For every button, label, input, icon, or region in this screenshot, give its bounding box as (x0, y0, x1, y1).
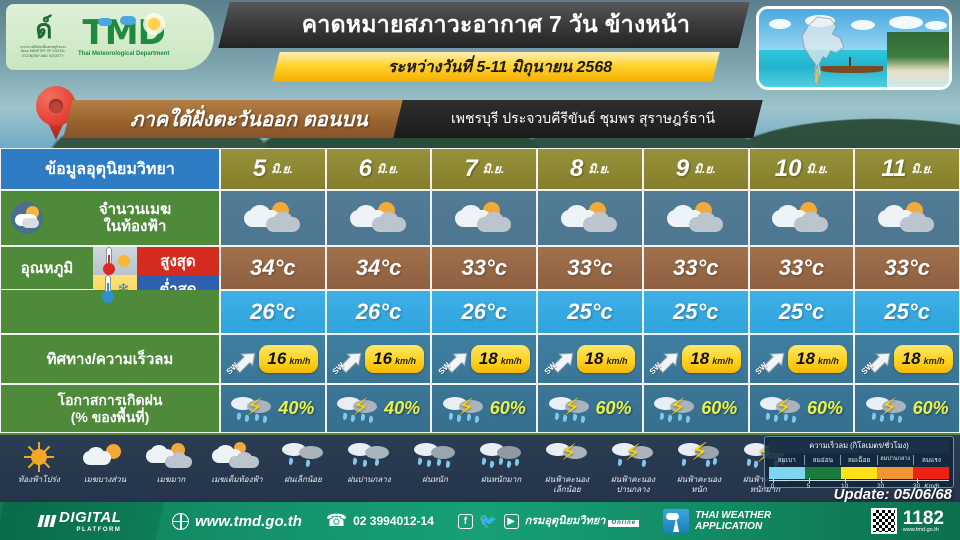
legend-label: ท้องฟ้าโปร่ง (18, 475, 60, 485)
wind-scale-swatch (841, 467, 877, 479)
rain-percent: 60% (913, 398, 949, 419)
celsius-unit: °c (803, 255, 824, 281)
day-month: มิ.ย. (271, 160, 293, 179)
day-month: มิ.ย. (377, 160, 399, 179)
wind-scale-label: ลมปานกลาง (878, 455, 914, 465)
digital-platform-logo: DIGITAL PLATFORM (0, 502, 164, 540)
app-name: THAI WEATHER APPLICATION (695, 510, 771, 533)
wind-speed-value: 18 (690, 349, 709, 369)
forecast-table: ข้อมูลอุตุนิยมวิทยา 5 มิ.ย. 6 มิ.ย. 7 มิ… (0, 148, 960, 433)
day-number: 11 (881, 155, 906, 183)
legend-label: ฝนฟ้าคะนอง หนัก (677, 475, 721, 494)
very-heavy-rain-icon (480, 439, 522, 475)
rain-cell-4: ⚡ 60% (643, 384, 749, 433)
wind-speed-unit: km/h (289, 356, 310, 366)
rain-percent: 60% (490, 398, 526, 419)
rain-percent: 60% (701, 398, 737, 419)
tmax-cell-5: 33°c (749, 246, 855, 290)
tmin-value: 26 (356, 299, 380, 325)
tmin-cell-2: 26°c (431, 290, 537, 334)
wind-scale-swatch (877, 467, 913, 479)
wind-speed-unit: km/h (395, 356, 416, 366)
tmax-value: 33 (462, 255, 486, 281)
mdes-logo-subtitle: กระทรวงดิจิทัลเพื่อเศรษฐกิจและสังคม MINI… (16, 45, 70, 59)
tmax-value: 34 (356, 255, 380, 281)
sky-cell-5 (749, 190, 855, 246)
celsius-unit: °c (592, 255, 613, 281)
rain-cell-1: ⚡ 40% (326, 384, 432, 433)
sky-cell-3 (537, 190, 643, 246)
wind-scale-label: ลมเฉื่อย (841, 455, 877, 465)
sky-cell-1 (326, 190, 432, 246)
legend-item: ท้องฟ้าโปร่ง (6, 439, 72, 485)
digital-sub: PLATFORM (59, 527, 121, 533)
thunderstorm-icon: ⚡ (654, 393, 696, 425)
moderate-rain-icon (348, 439, 390, 475)
hotline-number: 1182 www.tmd.go.th (903, 509, 944, 534)
wind-speed-value: 18 (479, 349, 498, 369)
legend-item: ⚡ ฝนฟ้าคะนอง หนัก (666, 439, 732, 494)
tmax-value: 33 (779, 255, 803, 281)
wind-arrow-icon: SW (650, 342, 680, 376)
wind-scale-label: ลมแรง (914, 455, 949, 465)
tmin-value: 25 (567, 299, 591, 325)
tmin-value: 25 (884, 299, 908, 325)
heavy-rain-icon (414, 439, 456, 475)
wind-scale-labels: ลมเบา ลมอ่อน ลมเฉื่อย ลมปานกลาง ลมแรง (769, 455, 949, 465)
wind-cell-1: SW 16 km/h (326, 334, 432, 384)
wind-speed-pill: 18 km/h (682, 345, 741, 373)
wind-scale-swatch (913, 467, 949, 479)
temp-min-row: 26°c 26°c 26°c 25°c 25°c 25°c 25°c (0, 290, 960, 334)
wind-scale-label: ลมอ่อน (805, 455, 841, 465)
wind-speed-scale: ความเร็วลม (กิโลเมตร/ชั่วโมง) ลมเบา ลมอ่… (764, 436, 954, 488)
legend-item: เมฆเต็มท้องฟ้า (204, 439, 270, 485)
tmin-cell-6: 25°c (854, 290, 960, 334)
wind-cell-3: SW 18 km/h (537, 334, 643, 384)
wind-row: ทิศทาง/ความเร็วลม SW 16 km/h SW 16 (0, 334, 960, 384)
app-line2: APPLICATION (695, 521, 762, 532)
partly-cloudy-icon (453, 200, 515, 236)
light-thunderstorm-icon: ⚡ (546, 439, 588, 475)
celsius-unit: °c (697, 255, 718, 281)
legend-label: เมฆเต็มท้องฟ้า (211, 475, 262, 485)
mdes-logo: ด์ กระทรวงดิจิทัลเพื่อเศรษฐกิจและสังคม M… (16, 10, 70, 64)
partly-cloudy-icon (348, 200, 410, 236)
wind-scale-tick: 5 (807, 483, 811, 490)
wind-scale-swatch (769, 467, 805, 479)
rain-label-line1: โอกาสการเกิดฝน (58, 392, 163, 409)
sky-cell-6 (854, 190, 960, 246)
tmin-value: 25 (673, 299, 697, 325)
partly-cloudy-icon (242, 200, 304, 236)
legend-label: ฝนฟ้าคะนอง เล็กน้อย (545, 475, 589, 494)
online-tag: Online (608, 520, 639, 527)
tmin-value: 26 (250, 299, 274, 325)
celsius-unit: °c (486, 299, 507, 325)
logo-plate: ด์ กระทรวงดิจิทัลเพื่อเศรษฐกิจและสังคม M… (6, 4, 214, 70)
rain-percent: 40% (384, 398, 420, 419)
wind-cell-5: SW 18 km/h (749, 334, 855, 384)
tmax-value: 34 (250, 255, 274, 281)
partly-cloudy-icon (876, 200, 938, 236)
day-header-0: 5 มิ.ย. (220, 148, 326, 190)
social-links[interactable]: f 🐦 ▶ กรมอุตุนิยมวิทยา Online (446, 512, 651, 530)
tmax-cell-4: 33°c (643, 246, 749, 290)
rain-cell-6: ⚡ 60% (854, 384, 960, 433)
wind-scale-swatch (805, 467, 841, 479)
celsius-unit: °c (909, 255, 930, 281)
wind-speed-value: 16 (373, 349, 392, 369)
day-header-5: 10 มิ.ย. (749, 148, 855, 190)
thai-weather-app[interactable]: THAI WEATHER APPLICATION (651, 509, 783, 533)
wind-speed-pill: 18 km/h (471, 345, 530, 373)
rain-percent: 40% (278, 398, 314, 419)
digital-word: DIGITAL (59, 509, 121, 526)
wind-scale-colorbar (769, 467, 949, 479)
update-timestamp: Update: 05/06/68 (834, 486, 952, 503)
wind-speed-pill: 16 km/h (259, 345, 318, 373)
day-month: มิ.ย. (588, 160, 610, 179)
sun-icon (24, 439, 54, 475)
cloud-row: จำนวนเมฆ ในท้องฟ้า (0, 190, 960, 246)
cloud-label-line2: ในท้องฟ้า (51, 218, 219, 235)
celsius-unit: °c (909, 299, 930, 325)
wind-speed-unit: km/h (924, 356, 945, 366)
wind-speed-value: 16 (267, 349, 286, 369)
qr-code-icon[interactable] (871, 508, 897, 534)
row-label-temperature: อุณหภูมิ (1, 247, 93, 289)
rain-cell-3: ⚡ 60% (537, 384, 643, 433)
tmax-value: 33 (673, 255, 697, 281)
row-label-rain: โอกาสการเกิดฝน (% ของพื้นที่) (0, 384, 220, 433)
bars-icon (39, 515, 55, 527)
wind-arrow-icon: SW (333, 342, 363, 376)
tmin-cell-5: 25°c (749, 290, 855, 334)
moderate-thunderstorm-icon: ⚡ (612, 439, 654, 475)
temperature-label-block: อุณหภูมิ สูงสุด ❄ ต่ำสุ (0, 246, 220, 290)
weather-forecast-infographic: ด์ กระทรวงดิจิทัลเพื่อเศรษฐกิจและสังคม M… (0, 0, 960, 540)
footer-bar: DIGITAL PLATFORM www.tmd.go.th ☎ 02 3994… (0, 502, 960, 540)
wind-cell-2: SW 18 km/h (431, 334, 537, 384)
celsius-unit: °c (697, 299, 718, 325)
day-number: 8 (570, 155, 583, 183)
provinces-label: เพชรบุรี ประจวบคีรีขันธ์ ชุมพร สุราษฎร์ธ… (410, 100, 756, 138)
legend-label: ฝนเล็กน้อย (284, 475, 322, 485)
globe-icon (172, 513, 189, 530)
tmin-cell-3: 25°c (537, 290, 643, 334)
legend-item: ฝนหนักมาก (468, 439, 534, 485)
day-month: มิ.ย. (483, 160, 505, 179)
legend-label: เมฆมาก (157, 475, 186, 485)
tmax-value: 33 (884, 255, 908, 281)
wind-arrow-icon: SW (545, 342, 575, 376)
wind-cell-6: SW 18 km/h (854, 334, 960, 384)
thunderstorm-icon: ⚡ (866, 393, 908, 425)
wind-cell-4: SW 18 km/h (643, 334, 749, 384)
legend-item: ฝนหนัก (402, 439, 468, 485)
app-icon (663, 509, 689, 533)
facebook-icon[interactable]: f (458, 514, 473, 529)
legend-item: ฝนปานกลาง (336, 439, 402, 485)
celsius-unit: °c (275, 255, 296, 281)
thunderstorm-icon: ⚡ (337, 393, 379, 425)
region-label: ภาคใต้ฝั่งตะวันออก ตอนบน (84, 100, 414, 138)
tmin-value: 25 (779, 299, 803, 325)
twitter-icon[interactable]: 🐦 (479, 512, 498, 530)
map-island (887, 32, 949, 87)
day-number: 7 (464, 155, 477, 183)
sky-cell-2 (431, 190, 537, 246)
header-label-info: ข้อมูลอุตุนิยมวิทยา (0, 148, 220, 190)
thunderstorm-icon: ⚡ (231, 393, 273, 425)
rain-percent: 60% (596, 398, 632, 419)
website-url: www.tmd.go.th (195, 513, 302, 530)
thailand-outline-icon (787, 15, 859, 89)
wind-speed-value: 18 (585, 349, 604, 369)
celsius-unit: °c (380, 255, 401, 281)
phone-number: 02 3994012-14 (353, 514, 434, 528)
rain-percent: 60% (807, 398, 843, 419)
longtail-boat-icon (821, 61, 883, 73)
partly-cloudy-icon (770, 200, 832, 236)
legend-item: ⚡ ฝนฟ้าคะนอง เล็กน้อย (534, 439, 600, 494)
hotline-value: 1182 (903, 508, 944, 529)
wind-arrow-icon: SW (439, 342, 469, 376)
tmax-cell-0: 34°c (220, 246, 326, 290)
sky-cell-4 (643, 190, 749, 246)
wind-speed-unit: km/h (501, 356, 522, 366)
celsius-unit: °c (486, 255, 507, 281)
date-range-label: ระหว่างวันที่ 5-11 มิถุนายน 2568 (290, 53, 710, 81)
tmin-cell-1: 26°c (326, 290, 432, 334)
wind-speed-pill: 18 km/h (577, 345, 636, 373)
website-link[interactable]: www.tmd.go.th (160, 513, 314, 530)
legend-label: เมฆบางส่วน (84, 475, 126, 485)
tmin-cell-0: 26°c (220, 290, 326, 334)
day-header-6: 11 มิ.ย. (854, 148, 960, 190)
wind-speed-unit: km/h (606, 356, 627, 366)
rain-cell-0: ⚡ 40% (220, 384, 326, 433)
day-number: 9 (676, 155, 689, 183)
wind-arrow-icon: SW (227, 342, 257, 376)
thermometer-hot-icon (93, 247, 137, 275)
day-month: มิ.ย. (807, 160, 829, 179)
wind-speed-pill: 18 km/h (788, 345, 847, 373)
sky-cell-0 (220, 190, 326, 246)
celsius-unit: °c (275, 299, 296, 325)
wind-scale-tick: 0 (771, 483, 775, 490)
legend-item: ฝนเล็กน้อย (270, 439, 336, 485)
day-number: 6 (359, 155, 372, 183)
row-label-cloud: จำนวนเมฆ ในท้องฟ้า (0, 190, 220, 246)
legend-label: ฝนฟ้าคะนอง ปานกลาง (611, 475, 655, 494)
thailand-map-photo (756, 6, 952, 90)
wind-cell-0: SW 16 km/h (220, 334, 326, 384)
legend-item: ⚡ ฝนฟ้าคะนอง ปานกลาง (600, 439, 666, 494)
wind-speed-value: 18 (796, 349, 815, 369)
thunderstorm-icon: ⚡ (443, 393, 485, 425)
temp-max-label: สูงสุด (137, 247, 219, 275)
day-number: 5 (253, 155, 266, 183)
heavy-thunderstorm-icon: ⚡ (678, 439, 720, 475)
legend-label: ฝนหนัก (422, 475, 448, 485)
day-month: มิ.ย. (694, 160, 716, 179)
day-header-2: 7 มิ.ย. (431, 148, 537, 190)
phone-contact[interactable]: ☎ 02 3994012-14 (314, 511, 446, 531)
tmd-logo-subtitle: Thai Meteorological Department (78, 51, 169, 57)
day-header-1: 6 มิ.ย. (326, 148, 432, 190)
mostly-cloudy-icon (146, 439, 196, 475)
rain-chance-row: โอกาสการเกิดฝน (% ของพื้นที่) ⚡ 40% (0, 384, 960, 433)
wind-arrow-icon: SW (756, 342, 786, 376)
thunderstorm-icon: ⚡ (549, 393, 591, 425)
wind-speed-pill: 16 km/h (365, 345, 424, 373)
mdes-mark-icon: ด์ (36, 16, 51, 42)
day-number: 10 (775, 155, 802, 183)
tmd-logo: TMD Thai Meteorological Department (78, 17, 169, 56)
temp-max-row: อุณหภูมิ สูงสุด ❄ ต่ำสุ (0, 246, 960, 290)
light-rain-icon (282, 439, 324, 475)
wind-scale-title: ความเร็วลม (กิโลเมตร/ชั่วโมง) (769, 439, 949, 453)
tmin-cell-4: 25°c (643, 290, 749, 334)
hotline-subtext: www.tmd.go.th (903, 528, 944, 534)
partly-cloudy-icon (11, 202, 43, 234)
tmin-value: 26 (462, 299, 486, 325)
day-header-3: 8 มิ.ย. (537, 148, 643, 190)
tmd-online-label: กรมอุตุนิยมวิทยา Online (525, 515, 640, 527)
online-title: กรมอุตุนิยมวิทยา (525, 515, 606, 527)
tmax-cell-3: 33°c (537, 246, 643, 290)
legend-label: ฝนหนักมาก (481, 475, 521, 485)
page-title: คาดหมายสภาวะอากาศ 7 วัน ข้างหน้า (246, 4, 746, 46)
cloud-label-line1: จำนวนเมฆ (51, 201, 219, 218)
partly-cloudy-icon (559, 200, 621, 236)
wind-speed-unit: km/h (818, 356, 839, 366)
wind-arrow-icon: SW (862, 342, 892, 376)
tmax-cell-2: 33°c (431, 246, 537, 290)
youtube-icon[interactable]: ▶ (504, 514, 519, 529)
overcast-icon (212, 439, 262, 475)
wind-speed-pill: 18 km/h (894, 345, 953, 373)
app-line1: THAI WEATHER (695, 510, 771, 521)
legend-item: เมฆบางส่วน (72, 439, 138, 485)
legend-item: เมฆมาก (138, 439, 204, 485)
tmax-value: 33 (567, 255, 591, 281)
celsius-unit: °c (592, 299, 613, 325)
partly-cloudy-icon (665, 200, 727, 236)
partly-cloudy-icon (82, 439, 128, 475)
wind-speed-value: 18 (902, 349, 921, 369)
celsius-unit: °c (803, 299, 824, 325)
rain-label-line2: (% ของพื้นที่) (58, 409, 163, 426)
wind-speed-unit: km/h (712, 356, 733, 366)
legend-label: ฝนปานกลาง (347, 475, 390, 485)
tmax-cell-6: 33°c (854, 246, 960, 290)
rain-cell-2: ⚡ 60% (431, 384, 537, 433)
rain-cell-5: ⚡ 60% (749, 384, 855, 433)
day-month: มิ.ย. (911, 160, 933, 179)
thunderstorm-icon: ⚡ (760, 393, 802, 425)
row-label-wind: ทิศทาง/ความเร็วลม (0, 334, 220, 384)
phone-icon: ☎ (326, 511, 347, 531)
tmax-cell-1: 34°c (326, 246, 432, 290)
table-header-row: ข้อมูลอุตุนิยมวิทยา 5 มิ.ย. 6 มิ.ย. 7 มิ… (0, 148, 960, 190)
hotline-block: 1182 www.tmd.go.th (859, 508, 960, 534)
celsius-unit: °c (380, 299, 401, 325)
day-header-4: 9 มิ.ย. (643, 148, 749, 190)
wind-scale-label: ลมเบา (769, 455, 805, 465)
